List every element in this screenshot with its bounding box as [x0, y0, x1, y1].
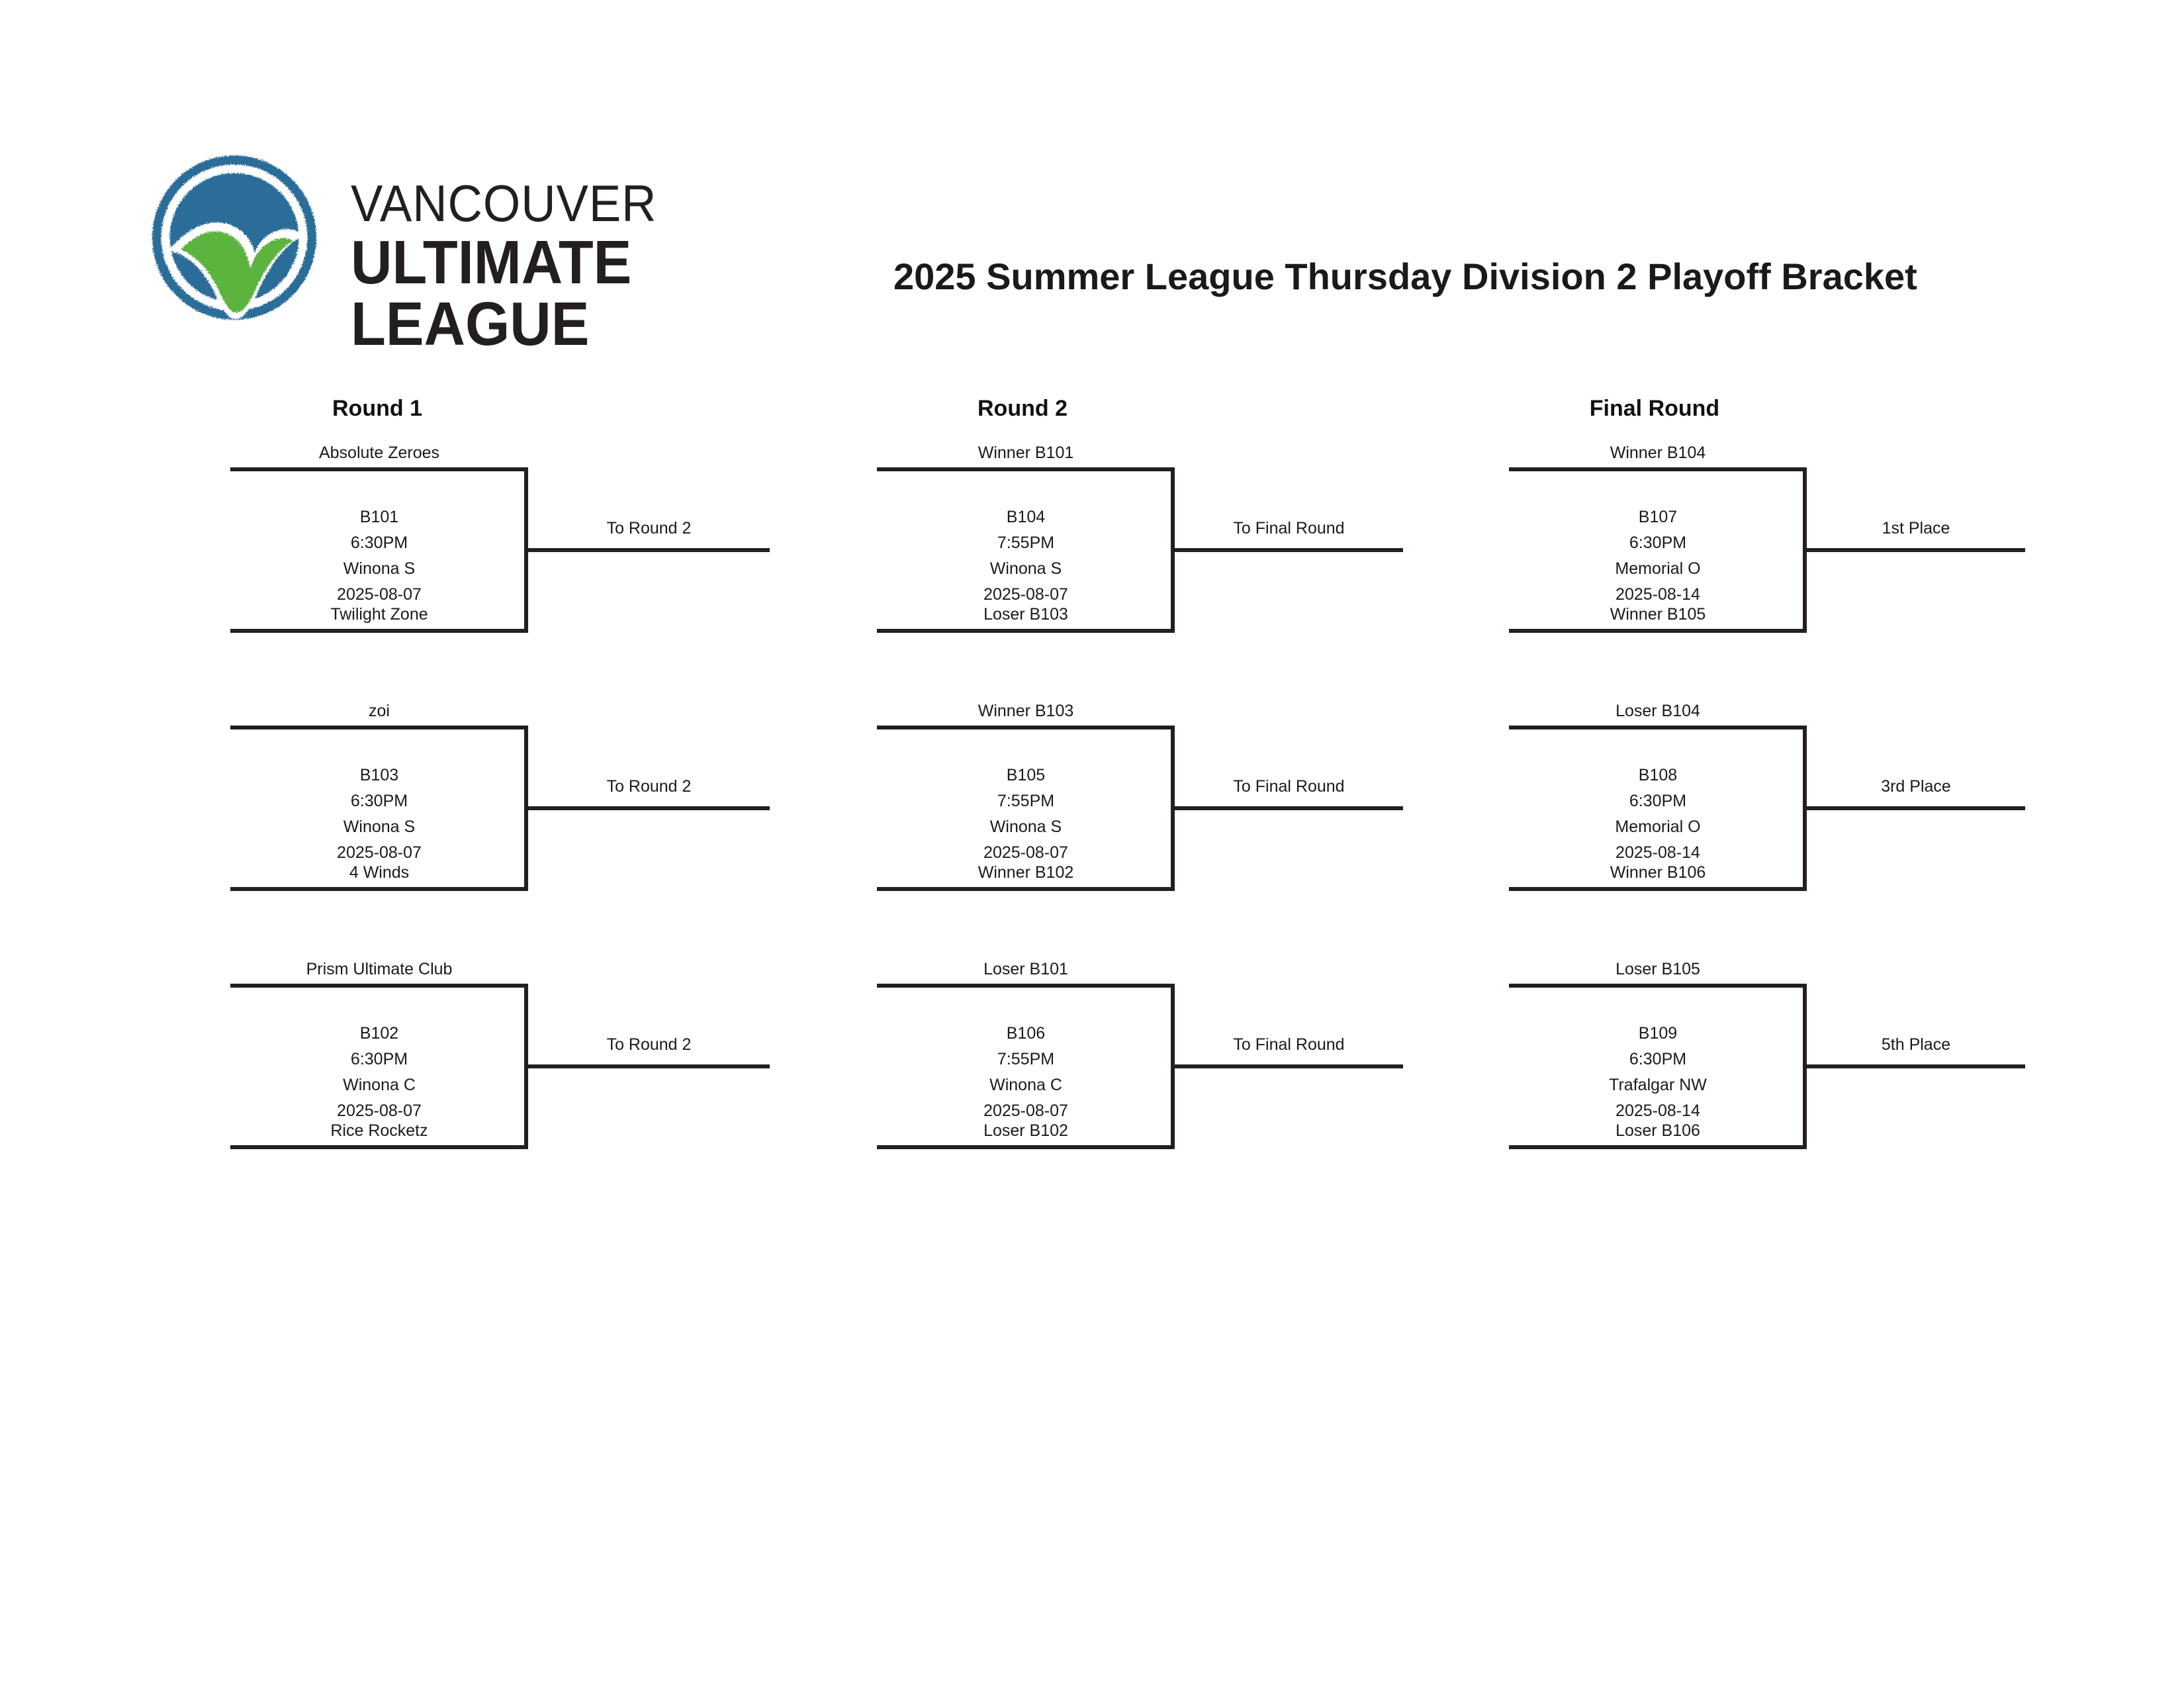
match-time: 7:55PM — [877, 788, 1175, 814]
match-rail-bottom — [1509, 1145, 1807, 1149]
match-info: B108 6:30PM Memorial O 2025-08-14 — [1509, 763, 1807, 866]
match-info: B103 6:30PM Winona S 2025-08-07 — [230, 763, 528, 866]
match-date: 2025-08-07 — [877, 582, 1175, 608]
match-date: 2025-08-14 — [1509, 840, 1807, 866]
match-rail-bottom — [230, 1145, 528, 1149]
match-B101[interactable]: Absolute Zeroes B101 6:30PM Winona S 202… — [230, 467, 528, 633]
match-game-code: B105 — [877, 763, 1175, 788]
team-slot-away: Winner B106 — [1509, 863, 1807, 882]
match-field: Memorial O — [1509, 556, 1807, 582]
team-slot-home: Absolute Zeroes — [230, 444, 528, 463]
match-game-code: B106 — [877, 1021, 1175, 1047]
match-connector: To Round 2 — [528, 806, 770, 810]
team-slot-home: Winner B103 — [877, 702, 1175, 721]
match-B103[interactable]: zoi B103 6:30PM Winona S 2025-08-07 4 Wi… — [230, 726, 528, 891]
match-date: 2025-08-07 — [877, 1098, 1175, 1124]
team-slot-away: Rice Rocketz — [230, 1121, 528, 1141]
match-game-code: B109 — [1509, 1021, 1807, 1047]
match-rail-top — [1509, 726, 1807, 729]
match-field: Memorial O — [1509, 814, 1807, 840]
team-slot-home: Prism Ultimate Club — [230, 960, 528, 979]
match-info: B104 7:55PM Winona S 2025-08-07 — [877, 504, 1175, 608]
team-slot-away: Winner B102 — [877, 863, 1175, 882]
match-rail-bottom — [230, 887, 528, 891]
match-date: 2025-08-07 — [230, 840, 528, 866]
match-field: Winona S — [877, 556, 1175, 582]
team-slot-home: Loser B104 — [1509, 702, 1807, 721]
match-rail-bottom — [1509, 629, 1807, 633]
match-game-code: B108 — [1509, 763, 1807, 788]
match-B105[interactable]: Winner B103 B105 7:55PM Winona S 2025-08… — [877, 726, 1175, 891]
match-game-code: B104 — [877, 504, 1175, 530]
match-game-code: B101 — [230, 504, 528, 530]
match-info: B101 6:30PM Winona S 2025-08-07 — [230, 504, 528, 608]
match-game-code: B102 — [230, 1021, 528, 1047]
placement-label: 1st Place — [1807, 519, 2025, 538]
match-time: 7:55PM — [877, 530, 1175, 556]
team-slot-away: 4 Winds — [230, 863, 528, 882]
team-slot-home: zoi — [230, 702, 528, 721]
match-field: Winona S — [230, 556, 528, 582]
match-rail-top — [1509, 467, 1807, 471]
match-time: 6:30PM — [1509, 530, 1807, 556]
match-rail-bottom — [877, 887, 1175, 891]
match-field: Winona C — [877, 1072, 1175, 1098]
match-info: B109 6:30PM Trafalgar NW 2025-08-14 — [1509, 1021, 1807, 1124]
team-slot-home: Winner B104 — [1509, 444, 1807, 463]
match-connector: To Final Round — [1175, 1064, 1403, 1068]
round-header-final-round: Final Round — [1506, 396, 1803, 422]
match-time: 6:30PM — [1509, 788, 1807, 814]
match-B102[interactable]: Prism Ultimate Club B102 6:30PM Winona C… — [230, 984, 528, 1149]
match-info: B102 6:30PM Winona C 2025-08-07 — [230, 1021, 528, 1124]
match-connector: To Round 2 — [528, 1064, 770, 1068]
team-slot-away: Loser B102 — [877, 1121, 1175, 1141]
match-connector: 1st Place — [1807, 548, 2025, 552]
match-time: 7:55PM — [877, 1047, 1175, 1072]
match-rail-top — [230, 726, 528, 729]
match-B106[interactable]: Loser B101 B106 7:55PM Winona C 2025-08-… — [877, 984, 1175, 1149]
connector-label: To Final Round — [1175, 1035, 1403, 1055]
match-field: Winona S — [230, 814, 528, 840]
connector-label: To Final Round — [1175, 519, 1403, 538]
match-B104[interactable]: Winner B101 B104 7:55PM Winona S 2025-08… — [877, 467, 1175, 633]
match-date: 2025-08-07 — [230, 582, 528, 608]
match-connector: To Final Round — [1175, 548, 1403, 552]
match-time: 6:30PM — [230, 788, 528, 814]
connector-label: To Round 2 — [528, 519, 770, 538]
match-field: Winona C — [230, 1072, 528, 1098]
match-rail-bottom — [230, 629, 528, 633]
match-B109[interactable]: Loser B105 B109 6:30PM Trafalgar NW 2025… — [1509, 984, 1807, 1149]
team-slot-home: Loser B105 — [1509, 960, 1807, 979]
match-game-code: B103 — [230, 763, 528, 788]
team-slot-home: Winner B101 — [877, 444, 1175, 463]
match-B108[interactable]: Loser B104 B108 6:30PM Memorial O 2025-0… — [1509, 726, 1807, 891]
match-rail-top — [877, 984, 1175, 988]
team-slot-away: Winner B105 — [1509, 605, 1807, 624]
match-date: 2025-08-07 — [877, 840, 1175, 866]
match-rail-top — [877, 726, 1175, 729]
match-connector: To Final Round — [1175, 806, 1403, 810]
team-slot-away: Loser B106 — [1509, 1121, 1807, 1141]
match-rail-top — [1509, 984, 1807, 988]
match-connector: 3rd Place — [1807, 806, 2025, 810]
match-rail-top — [230, 467, 528, 471]
match-connector: To Round 2 — [528, 548, 770, 552]
match-B107[interactable]: Winner B104 B107 6:30PM Memorial O 2025-… — [1509, 467, 1807, 633]
connector-label: To Round 2 — [528, 1035, 770, 1055]
team-slot-away: Loser B103 — [877, 605, 1175, 624]
match-rail-bottom — [1509, 887, 1807, 891]
match-info: B105 7:55PM Winona S 2025-08-07 — [877, 763, 1175, 866]
match-rail-bottom — [877, 1145, 1175, 1149]
match-date: 2025-08-07 — [230, 1098, 528, 1124]
playoff-bracket: Round 1 Round 2 Final Round Absolute Zer… — [0, 0, 2184, 1688]
match-rail-bottom — [877, 629, 1175, 633]
match-time: 6:30PM — [230, 530, 528, 556]
match-rail-top — [230, 984, 528, 988]
connector-label: To Round 2 — [528, 777, 770, 796]
match-connector: 5th Place — [1807, 1064, 2025, 1068]
match-info: B106 7:55PM Winona C 2025-08-07 — [877, 1021, 1175, 1124]
match-rail-top — [877, 467, 1175, 471]
match-game-code: B107 — [1509, 504, 1807, 530]
match-time: 6:30PM — [1509, 1047, 1807, 1072]
placement-label: 5th Place — [1807, 1035, 2025, 1055]
placement-label: 3rd Place — [1807, 777, 2025, 796]
round-header-round-1: Round 1 — [228, 396, 526, 422]
match-date: 2025-08-14 — [1509, 1098, 1807, 1124]
round-header-round-2: Round 2 — [874, 396, 1171, 422]
connector-label: To Final Round — [1175, 777, 1403, 796]
match-info: B107 6:30PM Memorial O 2025-08-14 — [1509, 504, 1807, 608]
match-field: Trafalgar NW — [1509, 1072, 1807, 1098]
match-field: Winona S — [877, 814, 1175, 840]
team-slot-away: Twilight Zone — [230, 605, 528, 624]
match-date: 2025-08-14 — [1509, 582, 1807, 608]
match-time: 6:30PM — [230, 1047, 528, 1072]
team-slot-home: Loser B101 — [877, 960, 1175, 979]
